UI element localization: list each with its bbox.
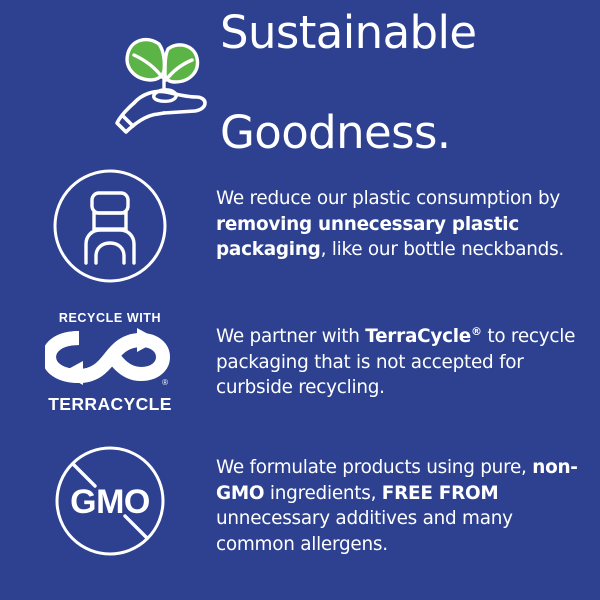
- terracycle-logo: RECYCLE WITH ® TERRACYCLE: [40, 305, 180, 414]
- benefit-text-slot: We reduce our plastic consumption by rem…: [216, 168, 600, 263]
- infinity-recycle-icon: [45, 328, 175, 386]
- bottle-neckband-icon: [52, 168, 168, 284]
- page-title-line-2: Goodness.: [220, 108, 477, 158]
- sustainable-goodness-infographic: Sustainable Goodness. We reduce our plas…: [0, 0, 600, 600]
- page-title-line-1: Sustainable: [220, 8, 477, 58]
- hand-holding-leaves-icon: [112, 31, 212, 135]
- header: Sustainable Goodness.: [0, 24, 600, 142]
- terracycle-registered-slot: ®: [46, 386, 174, 394]
- terracycle-top-label: RECYCLE WITH: [59, 311, 161, 325]
- benefit-row-terracycle: RECYCLE WITH ® TERRACYCLE We partner wit…: [0, 305, 600, 420]
- benefit-text-terracycle: We partner with TerraCycle® to recycle p…: [216, 305, 592, 401]
- benefit-row-plastic-reduction: We reduce our plastic consumption by rem…: [0, 168, 600, 288]
- no-gmo-icon: GMO: [51, 445, 169, 557]
- registered-mark-icon: ®: [162, 379, 168, 387]
- benefit-text-slot: We partner with TerraCycle® to recycle p…: [216, 305, 600, 401]
- benefit-text-non-gmo: We formulate products using pure, non-GM…: [216, 445, 592, 557]
- benefit-text-plastic-reduction: We reduce our plastic consumption by rem…: [216, 168, 592, 263]
- benefit-text-slot: We formulate products using pure, non-GM…: [216, 445, 600, 557]
- benefit-icon-slot: RECYCLE WITH ® TERRACYCLE: [0, 305, 216, 414]
- benefit-row-non-gmo: GMO We formulate products using pure, no…: [0, 445, 600, 565]
- benefit-icon-slot: GMO: [0, 445, 216, 557]
- no-gmo-icon-label: GMO: [70, 483, 150, 521]
- benefit-icon-slot: [0, 168, 216, 284]
- terracycle-bottom-label: TERRACYCLE: [48, 395, 172, 414]
